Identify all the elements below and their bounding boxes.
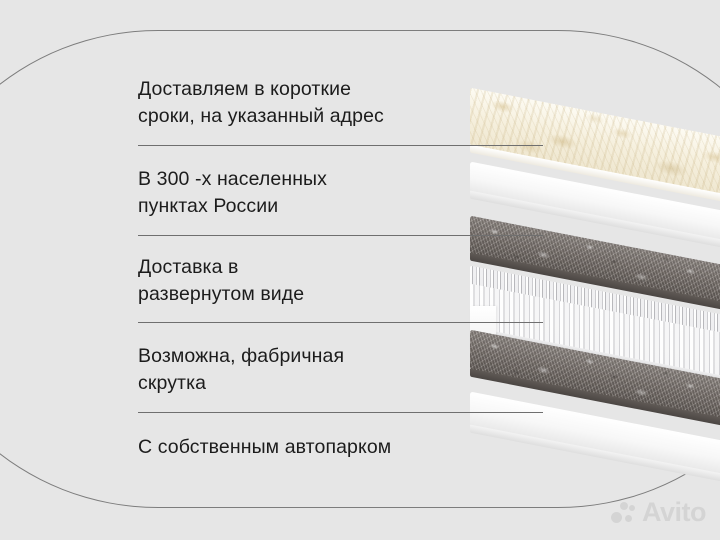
feature-text: Доставляем в короткие сроки, на указанны… xyxy=(138,76,384,130)
avito-watermark: Avito xyxy=(611,499,706,526)
mattress-layer-base-white xyxy=(470,418,720,452)
feature-item-delivery-speed: Доставляем в короткие сроки, на указанны… xyxy=(138,76,384,130)
feature-text: В 300 -х населенных пунктах России xyxy=(138,166,327,220)
feature-divider xyxy=(138,145,543,146)
avito-logo-icon xyxy=(611,502,637,524)
watermark-label: Avito xyxy=(642,499,706,526)
slide-canvas: Доставляем в короткие сроки, на указанны… xyxy=(0,0,720,540)
feature-divider xyxy=(138,235,543,236)
feature-divider xyxy=(138,322,543,323)
mattress-layer-felt-bottom xyxy=(470,356,720,396)
feature-divider xyxy=(138,412,543,413)
feature-text: Возможна, фабричная скрутка xyxy=(138,343,344,397)
mattress-layer-quilted-cover xyxy=(470,114,720,172)
feature-text: С собственным автопарком xyxy=(138,434,391,461)
mattress-cross-section-illustration xyxy=(470,100,720,460)
feature-item-coverage-area: В 300 -х населенных пунктах России xyxy=(138,166,327,220)
feature-item-factory-roll: Возможна, фабричная скрутка xyxy=(138,343,344,397)
feature-text: Доставка в развернутом виде xyxy=(138,254,304,308)
feature-item-delivery-form: Доставка в развернутом виде xyxy=(138,254,304,308)
feature-item-own-fleet: С собственным автопарком xyxy=(138,434,391,461)
mattress-layer-foam-white xyxy=(470,188,720,218)
